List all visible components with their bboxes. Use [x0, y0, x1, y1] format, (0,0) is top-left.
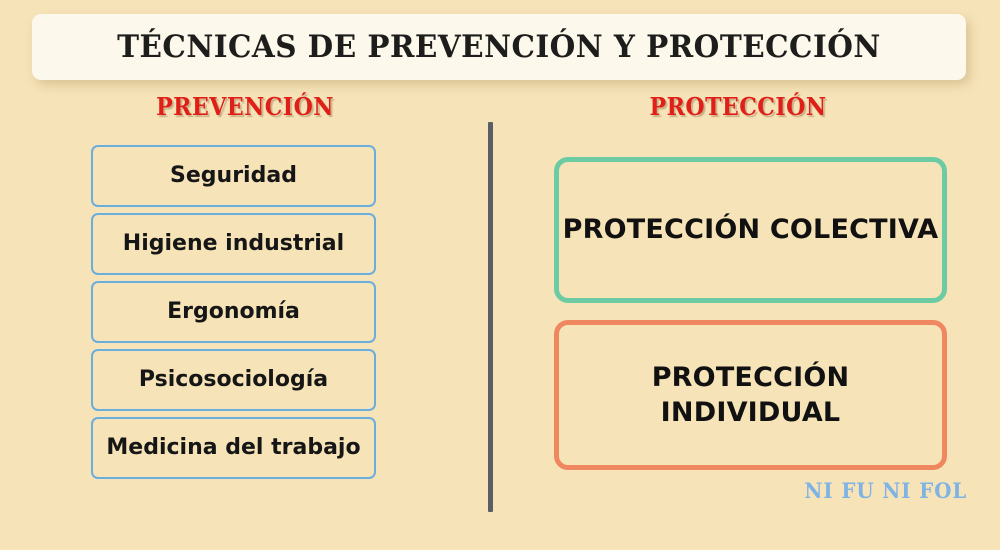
protection-heading: PROTECCIÓN — [519, 92, 957, 121]
list-item[interactable]: Ergonomía — [91, 281, 376, 343]
protection-collective-label: PROTECCIÓN COLECTIVA — [563, 212, 939, 247]
list-item[interactable]: Medicina del trabajo — [91, 417, 376, 479]
title-card: TÉCNICAS DE PREVENCIÓN Y PROTECCIÓN — [32, 14, 966, 80]
prevention-heading: PREVENCIÓN — [20, 92, 471, 121]
watermark-label: NI FU NI FOL — [804, 478, 967, 503]
list-item[interactable]: Higiene industrial — [91, 213, 376, 275]
protection-individual-box[interactable]: PROTECCIÓN INDIVIDUAL — [554, 320, 947, 470]
protection-group: PROTECCIÓN COLECTIVA PROTECCIÓN INDIVIDU… — [554, 157, 947, 470]
prevention-list: Seguridad Higiene industrial Ergonomía P… — [91, 145, 376, 485]
list-item-label: Psicosociología — [139, 368, 328, 393]
list-item-label: Higiene industrial — [123, 232, 344, 257]
protection-individual-label: PROTECCIÓN INDIVIDUAL — [559, 360, 942, 430]
column-divider — [488, 122, 493, 512]
list-item-label: Ergonomía — [167, 300, 300, 325]
list-item-label: Medicina del trabajo — [106, 436, 360, 461]
list-item[interactable]: Seguridad — [91, 145, 376, 207]
list-item-label: Seguridad — [170, 164, 297, 189]
page-title: TÉCNICAS DE PREVENCIÓN Y PROTECCIÓN — [117, 29, 881, 65]
protection-collective-box[interactable]: PROTECCIÓN COLECTIVA — [554, 157, 947, 303]
list-item[interactable]: Psicosociología — [91, 349, 376, 411]
slide-canvas: TÉCNICAS DE PREVENCIÓN Y PROTECCIÓN PREV… — [0, 0, 1000, 550]
